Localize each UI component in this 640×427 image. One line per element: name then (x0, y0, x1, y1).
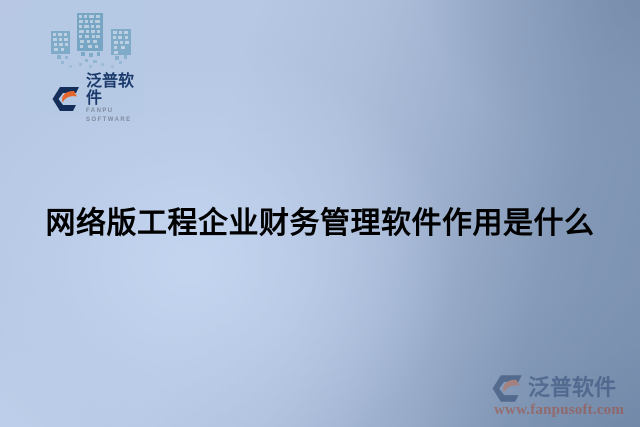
watermark-logo-row: 泛普软件 (492, 374, 616, 403)
brand-logo-en: FANPU SOFTWARE (86, 107, 144, 125)
page-title: 网络版工程企业财务管理软件作用是什么 (0, 198, 640, 242)
watermark-url: www.fanpusoft.com (494, 402, 624, 419)
fanpu-logo-mark-icon (52, 86, 81, 112)
brand-logo-cn: 泛普软件 (86, 72, 144, 106)
brand-logo-text: 泛普软件 FANPU SOFTWARE (86, 72, 144, 125)
watermark: 泛普软件 www.fanpusoft.com (492, 374, 632, 419)
promo-banner: 泛普软件 FANPU SOFTWARE 网络版工程企业财务管理软件作用是什么 泛… (0, 0, 640, 427)
watermark-brand-text: 泛普软件 (528, 377, 616, 401)
pixel-cityscape-icon (45, 3, 165, 71)
brand-panel: 泛普软件 FANPU SOFTWARE (22, 0, 144, 115)
fanpu-logo-mark-icon (492, 374, 524, 403)
brand-logo: 泛普软件 FANPU SOFTWARE (52, 72, 144, 125)
